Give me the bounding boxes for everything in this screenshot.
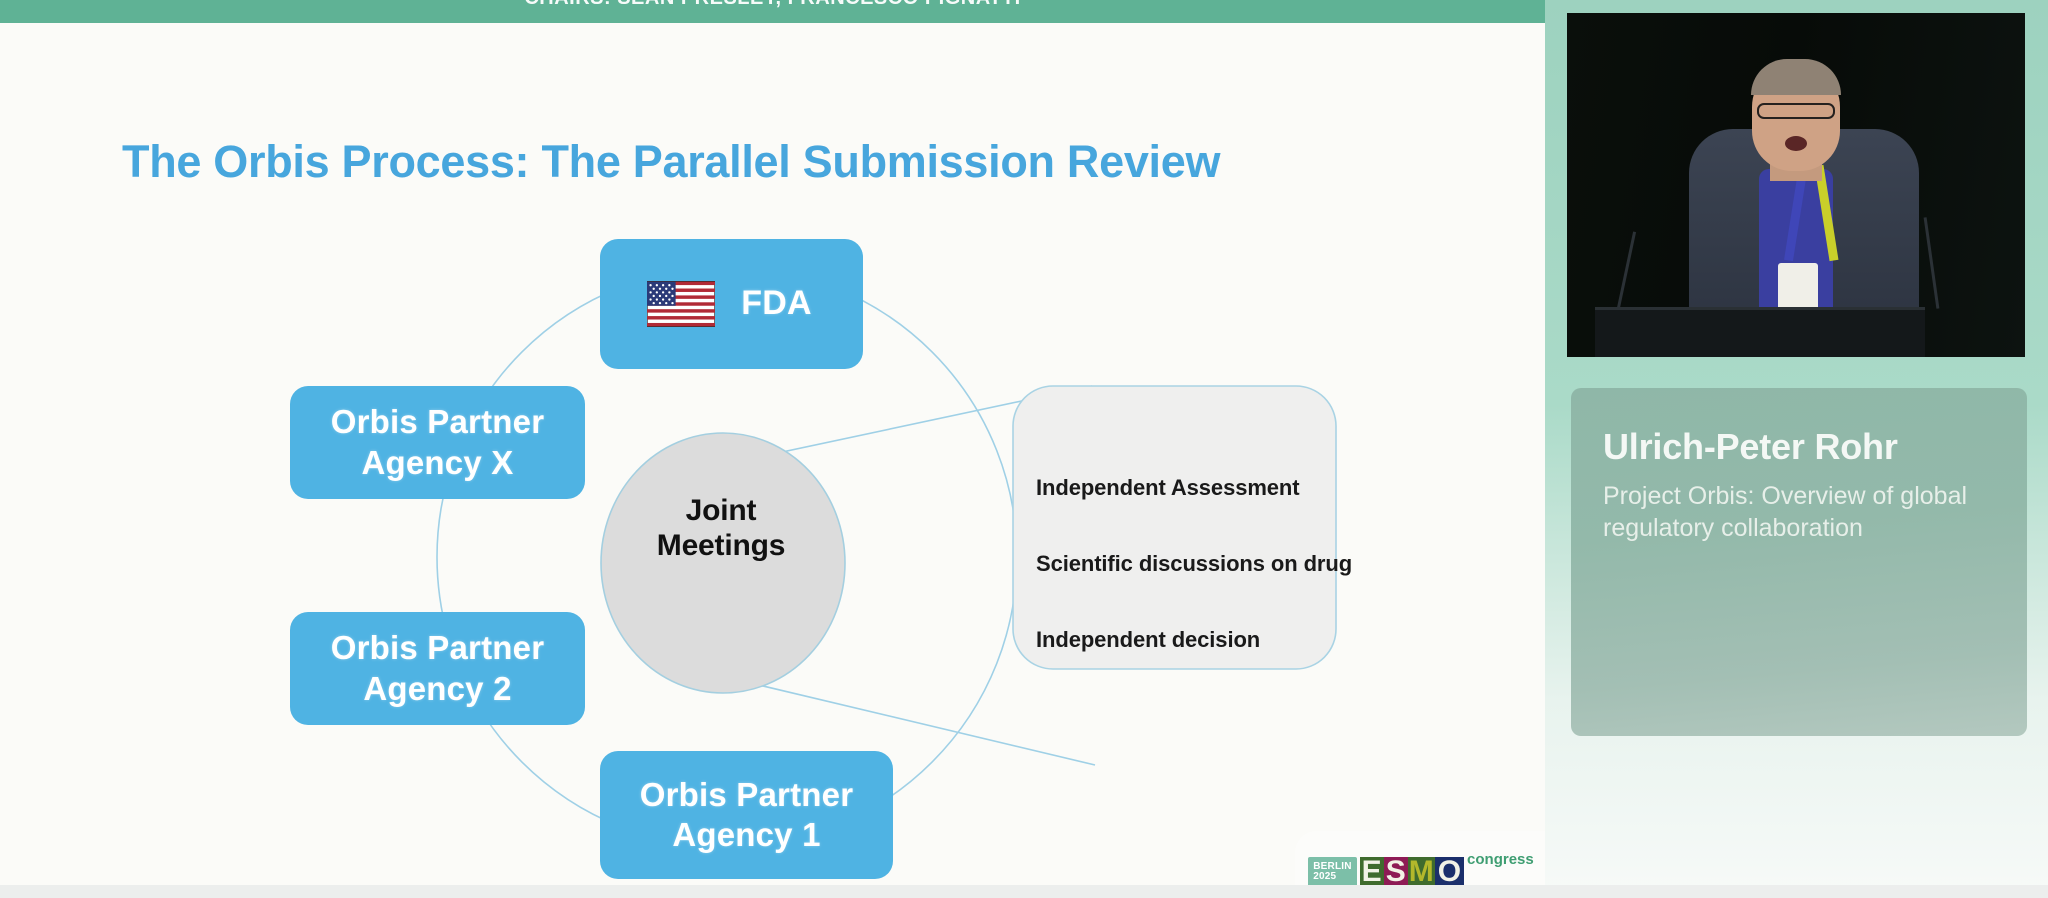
speaker-sidebar: Ulrich-Peter Rohr Project Orbis: Overvie… [1545, 0, 2048, 898]
esmo-wordmark: E S M O [1360, 857, 1464, 885]
esmo-logo-card: BERLIN 2025 E S M O congress [1295, 831, 1545, 885]
joint-meetings-line2: Meetings [657, 529, 785, 562]
node-fda-label: FDA [737, 283, 815, 324]
speaker-info-card: Ulrich-Peter Rohr Project Orbis: Overvie… [1571, 388, 2027, 736]
presentation-slide: The Orbis Process: The Parallel Submissi… [0, 23, 1545, 885]
podium-icon [1595, 307, 1925, 357]
speaker-name: Ulrich-Peter Rohr [1603, 426, 2003, 468]
esmo-letter-o: O [1435, 857, 1464, 885]
outcome-item-1: Independent Assessment [1036, 475, 1446, 501]
node-agency-x-line2: Agency X [361, 444, 513, 481]
speaker-mouth-icon [1785, 136, 1807, 151]
esmo-logo-suffix: congress [1467, 851, 1534, 868]
outcome-item-3: Independent decision [1036, 627, 1446, 653]
node-agency-2-label: Orbis Partner Agency 2 [327, 628, 549, 709]
esmo-letter-e: E [1360, 857, 1384, 885]
node-agency-2[interactable]: Orbis Partner Agency 2 [290, 612, 585, 725]
node-agency-2-line1: Orbis Partner [331, 629, 545, 666]
node-agency-x-line1: Orbis Partner [331, 403, 545, 440]
speaker-video[interactable] [1567, 13, 2025, 357]
esmo-edition-year: 2025 [1313, 872, 1351, 883]
outcomes-list: Independent Assessment Scientific discus… [1036, 475, 1446, 653]
us-flag-icon [647, 281, 715, 327]
node-agency-1-label: Orbis Partner Agency 1 [636, 775, 858, 856]
node-agency-x-label: Orbis Partner Agency X [327, 402, 549, 483]
esmo-edition-badge: BERLIN 2025 [1308, 857, 1356, 885]
node-agency-x[interactable]: Orbis Partner Agency X [290, 386, 585, 499]
esmo-logo: BERLIN 2025 E S M O congress [1308, 853, 1534, 885]
esmo-letter-s: S [1384, 857, 1408, 885]
node-agency-1[interactable]: Orbis Partner Agency 1 [600, 751, 893, 879]
node-fda[interactable]: FDA [600, 239, 863, 369]
joint-meetings-line1: Joint [686, 494, 757, 527]
outcome-item-2: Scientific discussions on drug [1036, 551, 1446, 577]
node-agency-2-line2: Agency 2 [363, 670, 511, 707]
speaker-talk-title: Project Orbis: Overview of global regula… [1603, 480, 2015, 544]
session-banner-text: CHAIRS: SEAN PRESLEY, FRANCESCO PIGNATTI [0, 0, 1545, 10]
esmo-letter-m: M [1408, 857, 1435, 885]
joint-meetings-label: Joint Meetings [596, 493, 846, 564]
glasses-icon [1757, 103, 1835, 119]
node-agency-1-line1: Orbis Partner [640, 776, 854, 813]
screen-root: CHAIRS: SEAN PRESLEY, FRANCESCO PIGNATTI… [0, 0, 2048, 898]
bottom-strip [0, 885, 2048, 898]
node-agency-1-line2: Agency 1 [672, 816, 820, 853]
